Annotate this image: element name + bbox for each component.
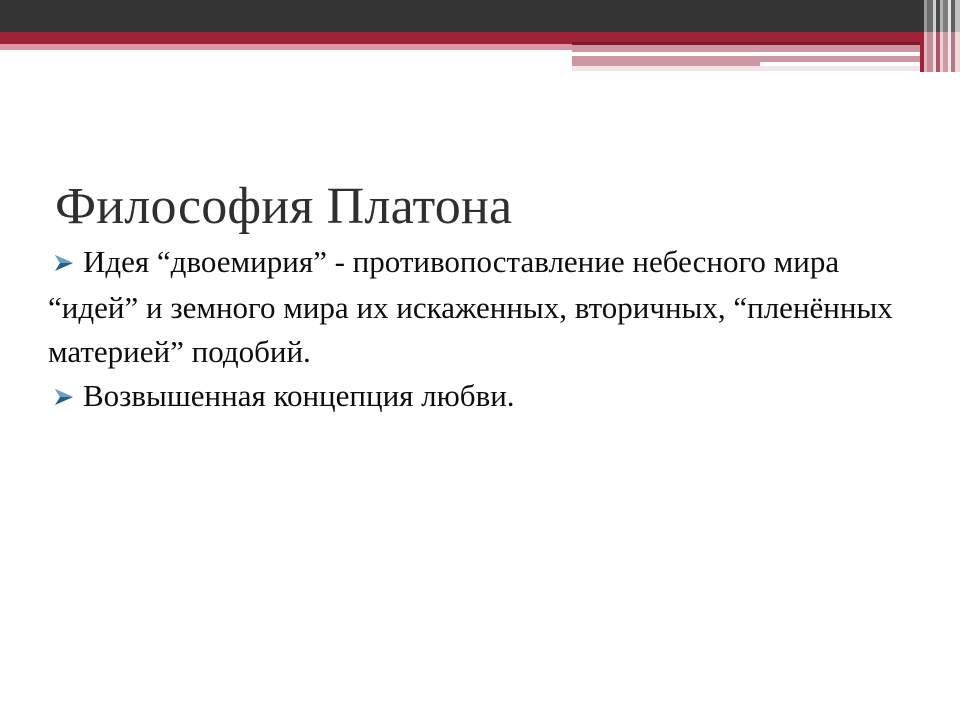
banner-dark-band (0, 0, 960, 32)
bullet-paragraph-1: Идея “двоемирия” - противопоставление не… (48, 240, 908, 374)
arrow-bullet-icon (53, 242, 83, 286)
slide-canvas: Философия Платона Идея “двоемирия” - про… (0, 0, 960, 720)
slide-body: Идея “двоемирия” - противопоставление не… (48, 240, 908, 420)
banner-pale-left-band (0, 44, 572, 50)
banner-faint-tail (572, 66, 960, 71)
banner-stripe-lower-9 (955, 32, 960, 72)
banner-pink-band-upper (572, 45, 960, 52)
banner-stripe-9 (955, 0, 960, 32)
bullet-text-1: Идея “двоемирия” - противопоставление не… (48, 244, 893, 369)
bullet-text-2: Возвышенная концепция любви. (83, 378, 515, 413)
slide-title: Философия Платона (55, 176, 905, 238)
slide-header-banner (0, 0, 960, 72)
arrow-bullet-icon (53, 376, 83, 420)
banner-vertical-stripes (920, 0, 960, 72)
bullet-paragraph-2: Возвышенная концепция любви. (48, 374, 908, 420)
